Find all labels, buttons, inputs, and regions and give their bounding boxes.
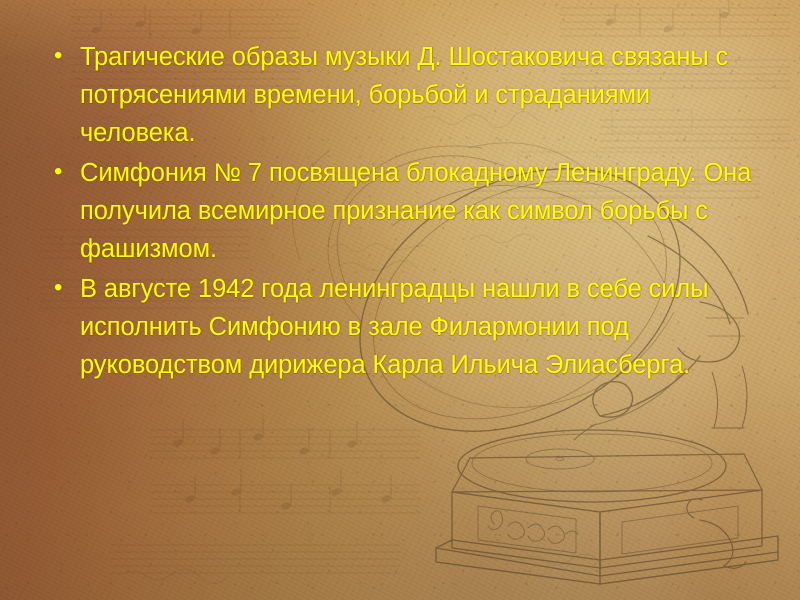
slide-body-text: Трагические образы музыки Д. Шостаковича… [52,38,752,386]
bullet-item-1: Трагические образы музыки Д. Шостаковича… [52,38,752,152]
bullet-item-2: Симфония № 7 посвящена блокадному Ленинг… [52,154,752,268]
bullet-list: Трагические образы музыки Д. Шостаковича… [52,38,752,384]
presentation-slide: Трагические образы музыки Д. Шостаковича… [0,0,800,600]
bullet-item-3: В августе 1942 года ленинградцы нашли в … [52,270,752,384]
